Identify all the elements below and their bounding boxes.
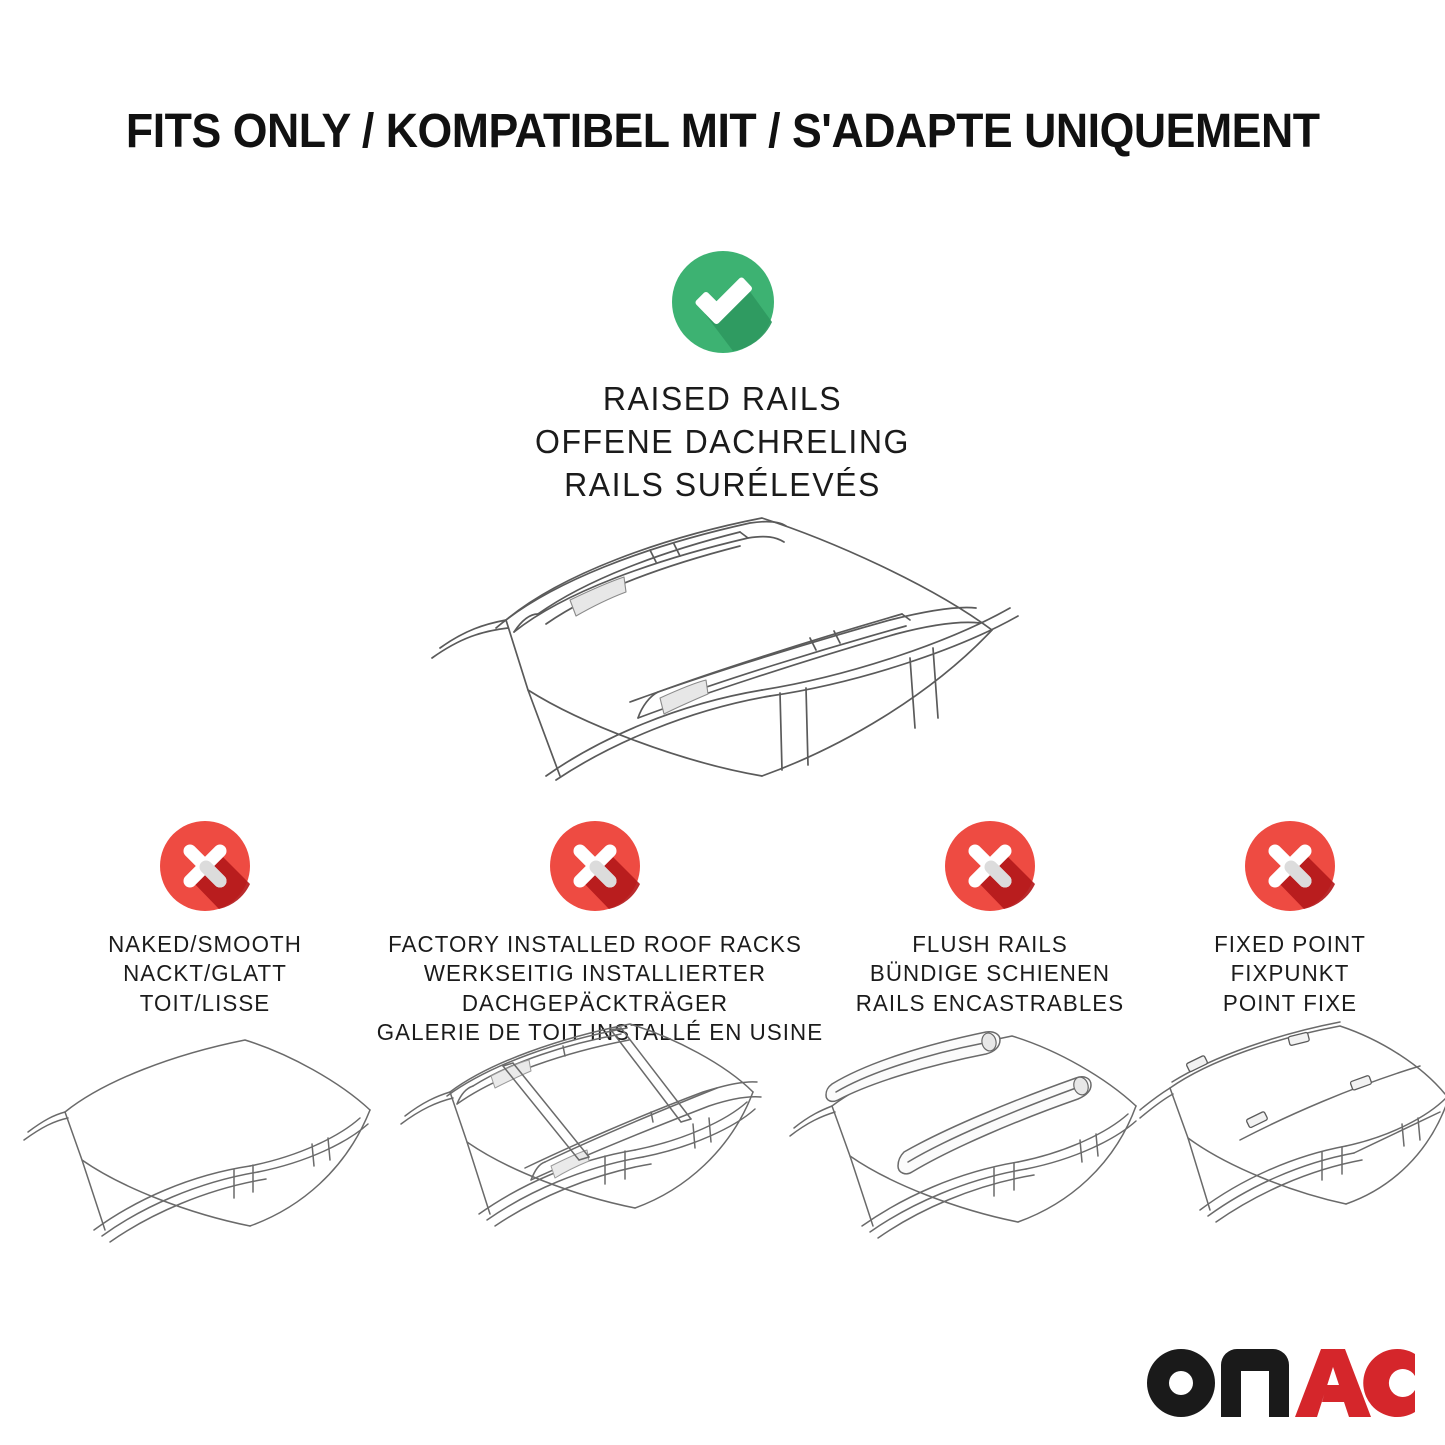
roof-left-edge <box>1170 1088 1346 1204</box>
rejected-label-en: FACTORY INSTALLED ROOF RACKS <box>377 930 814 959</box>
c-pillar <box>693 1118 711 1148</box>
crossbar-rear-a <box>611 1030 681 1122</box>
roof-gutter <box>546 690 762 776</box>
rejected-section-naked-smooth: NAKED/SMOOTH NACKT/GLATT TOIT/LISSE <box>45 820 365 1018</box>
rejected-labels: NAKED/SMOOTH NACKT/GLATT TOIT/LISSE <box>45 930 365 1018</box>
rejected-label-de: BÜNDIGE SCHIENEN <box>845 959 1136 988</box>
omac-a-glyph <box>1295 1349 1371 1417</box>
rejected-section-flush-rails: FLUSH RAILS BÜNDIGE SCHIENEN RAILS ENCAS… <box>840 820 1140 1018</box>
rejected-section-factory-roof-racks: FACTORY INSTALLED ROOF RACKS WERKSEITIG … <box>370 820 820 1048</box>
a-pillar <box>82 1160 105 1230</box>
roof-right-edge <box>1018 1106 1136 1222</box>
b-pillar <box>780 688 808 770</box>
raised-rail-left <box>496 522 786 632</box>
car-roof-fixed-point-illustration <box>1140 1020 1445 1250</box>
rejected-section-fixed-point: FIXED POINT FIXPUNKT POINT FIXE <box>1160 820 1420 1018</box>
omac-c-glyph <box>1363 1349 1415 1417</box>
x-circle-icon-svg <box>944 820 1036 912</box>
roof-left-ext-2 <box>432 628 508 658</box>
roof-left-ext <box>440 620 506 648</box>
a-pillar <box>850 1156 873 1226</box>
check-circle-icon-svg <box>671 250 775 354</box>
gutter-3 <box>1216 1160 1362 1222</box>
raised-rail-right <box>630 608 980 719</box>
rejected-label-en: FIXED POINT <box>1164 930 1416 959</box>
rail-right-inner <box>638 622 980 718</box>
fixed-point-tab-3 <box>1246 1111 1268 1128</box>
omac-logo-letter-a <box>1295 1349 1371 1417</box>
approved-label-de: OFFENE DACHRELING <box>22 421 1424 464</box>
rail-left-shade <box>570 577 626 616</box>
rejected-labels: FIXED POINT FIXPUNKT POINT FIXE <box>1160 930 1420 1018</box>
rejected-label-de: FIXPUNKT <box>1164 959 1416 988</box>
omac-o-glyph <box>1147 1349 1215 1417</box>
rail-left-top <box>538 532 740 614</box>
roof-left-edge <box>65 1112 250 1226</box>
crossbar-rear-cap2 <box>681 1119 691 1122</box>
rejected-label-en: NAKED/SMOOTH <box>50 930 360 959</box>
x-circle-icon <box>159 820 251 912</box>
fixed-point-tab-4 <box>1350 1075 1372 1090</box>
rejected-label-fr: RAILS ENCASTRABLES <box>845 989 1136 1018</box>
rejected-labels: FLUSH RAILS BÜNDIGE SCHIENEN RAILS ENCAS… <box>840 930 1140 1018</box>
roof-left-edge <box>450 1092 635 1208</box>
fixed-point-tab-2 <box>1288 1032 1310 1046</box>
roof-right-edge <box>250 1110 370 1226</box>
car-roof-flush-rails-illustration <box>780 1020 1180 1250</box>
roof-right-gutter-2 <box>770 616 1018 696</box>
right-gutter-1 <box>1346 1098 1445 1146</box>
roof-ext-1 <box>794 1106 832 1128</box>
fixed-point-tab-1 <box>1186 1055 1208 1072</box>
rejected-label-en: FLUSH RAILS <box>845 930 1136 959</box>
near-roof-ridge <box>1240 1066 1420 1140</box>
omac-m-glyph <box>1221 1349 1289 1417</box>
roof-ext-1 <box>28 1112 65 1132</box>
check-circle-icon <box>671 250 775 354</box>
side-rail-far <box>447 1028 629 1104</box>
rejected-label-de-1: WERKSEITIG INSTALLIERTER <box>377 959 814 988</box>
roof-front-edge <box>65 1040 370 1112</box>
car-roof-naked-smooth-illustration <box>10 1020 410 1250</box>
car-roof-factory-roof-racks-illustration <box>395 1020 795 1250</box>
a-pillar <box>1188 1138 1210 1210</box>
rejected-label-de: NACKT/GLATT <box>50 959 360 988</box>
car-roof-factory-roof-racks-svg <box>395 1020 795 1250</box>
car-roof-flush-rails-svg <box>780 1020 1180 1250</box>
b-pillar <box>1322 1147 1342 1180</box>
car-roof-raised-rails-svg <box>410 480 1030 780</box>
rail-right-outer <box>630 608 976 703</box>
flush-rail-far <box>826 1032 1000 1102</box>
car-roof-naked-smooth-svg <box>10 1020 410 1250</box>
rejected-label-de-2: DACHGEPÄCKTRÄGER <box>377 989 814 1018</box>
x-circle-icon <box>1244 820 1336 912</box>
car-roof-raised-rails-illustration <box>410 480 1030 780</box>
x-circle-icon <box>944 820 1036 912</box>
page-title-bar: FITS ONLY / KOMPATIBEL MIT / S'ADAPTE UN… <box>0 104 1445 159</box>
right-gutter-2 <box>1354 1112 1440 1153</box>
approved-section: RAISED RAILS OFFENE DACHRELING RAILS SUR… <box>0 250 1445 507</box>
roof-right-edge <box>762 630 992 776</box>
a-pillar <box>467 1142 490 1214</box>
roof-right-edge <box>635 1092 753 1208</box>
omac-logo-letter-c <box>1363 1349 1415 1417</box>
rail-near-shade <box>551 1150 589 1178</box>
page-title: FITS ONLY / KOMPATIBEL MIT / S'ADAPTE UN… <box>126 104 1320 159</box>
approved-label-en: RAISED RAILS <box>22 378 1424 421</box>
x-circle-icon-svg <box>1244 820 1336 912</box>
roof-right-edge <box>1346 1100 1445 1204</box>
a-pillar <box>528 690 560 776</box>
crossbar-rear <box>611 1028 691 1122</box>
flush-rail-far-body <box>826 1032 1000 1102</box>
x-circle-icon-svg <box>549 820 641 912</box>
x-circle-icon-svg <box>159 820 251 912</box>
omac-logo-letter-o <box>1147 1349 1215 1417</box>
gutter-3 <box>495 1164 651 1226</box>
rail-left-foot-b <box>740 532 748 538</box>
right-gutter-2 <box>643 1109 755 1157</box>
x-circle-icon <box>549 820 641 912</box>
omac-logo <box>1145 1349 1415 1417</box>
roof-ext-2 <box>24 1118 68 1140</box>
omac-logo-letter-m <box>1221 1349 1289 1417</box>
crossbar-front-b <box>513 1063 589 1157</box>
omac-logo-svg <box>1145 1349 1415 1417</box>
rejected-label-fr: POINT FIXE <box>1164 989 1416 1018</box>
car-roof-fixed-point-svg <box>1140 1020 1445 1250</box>
crossbar-front-a <box>503 1066 579 1160</box>
roof-ext-1 <box>405 1092 450 1116</box>
rejected-label-fr: TOIT/LISSE <box>50 989 360 1018</box>
crossbar-rear-b <box>621 1028 691 1119</box>
